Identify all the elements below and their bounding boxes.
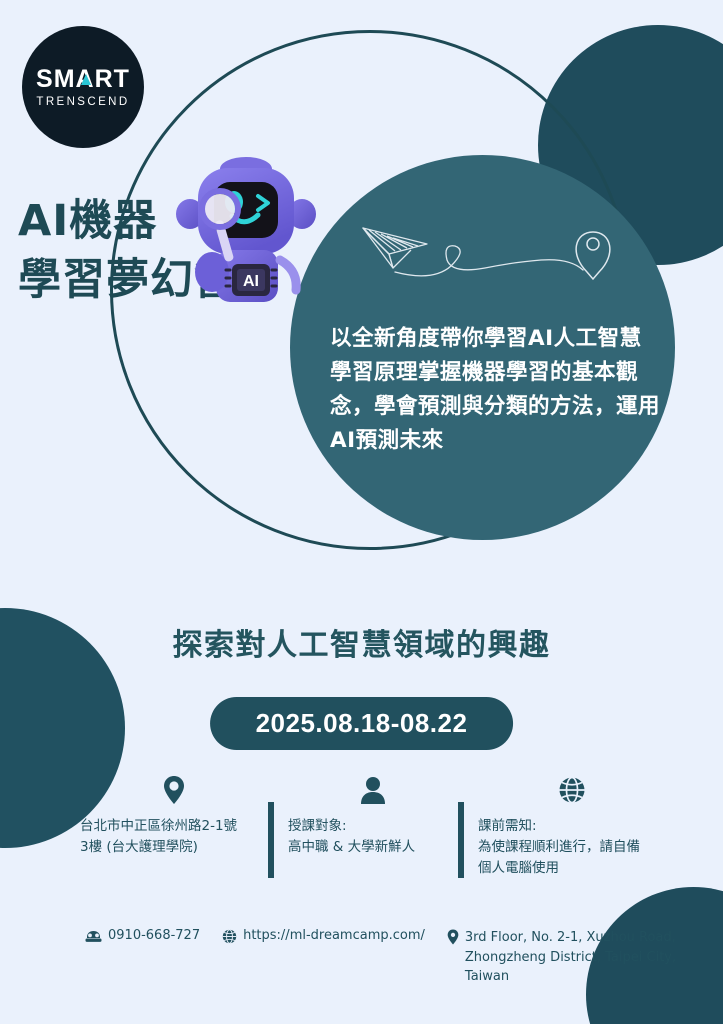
poster-canvas: SMART TRENSCEND AI機器 學習夢幻營 <box>0 0 723 1024</box>
info-column-audience: 授課對象:高中職 & 大學新鮮人 <box>268 772 458 879</box>
logo-triangle-icon <box>81 74 91 85</box>
footer-website[interactable]: https://ml-dreamcamp.com/ <box>222 928 425 944</box>
column-divider <box>458 802 464 878</box>
person-icon <box>288 772 458 808</box>
info-column-prerequisites: 課前需知:為使課程順利進行，請自備個人電腦使用 <box>458 772 665 879</box>
globe-icon <box>222 929 237 944</box>
footer-address: 3rd Floor, No. 2-1, Xuzhou Road, Zhongzh… <box>447 928 680 987</box>
robot-mascot-icon: AI <box>172 152 320 302</box>
course-description: 以全新角度帶你學習AI人工智慧學習原理掌握機器學習的基本觀念，學會預測與分類的方… <box>330 322 660 458</box>
footer-phone[interactable]: 0910-668-727 <box>85 928 200 943</box>
info-column-body: 授課對象:高中職 & 大學新鮮人 <box>288 772 458 879</box>
paper-plane-illustration <box>355 210 655 290</box>
info-text-audience: 授課對象:高中職 & 大學新鮮人 <box>288 816 458 858</box>
info-text-prerequisites: 課前需知:為使課程順利進行，請自備個人電腦使用 <box>478 816 665 879</box>
location-pin-icon <box>80 772 268 808</box>
mascot-ai-badge-label: AI <box>243 273 259 290</box>
footer-address-label: 3rd Floor, No. 2-1, Xuzhou Road, Zhongzh… <box>465 928 680 987</box>
telephone-icon <box>85 929 102 943</box>
info-columns: 台北市中正區徐州路2-1號3樓 (台大護理學院) 授課對象:高中職 & 大學新鮮… <box>80 772 665 879</box>
info-column-body: 課前需知:為使課程順利進行，請自備個人電腦使用 <box>478 772 665 879</box>
footer-phone-label: 0910-668-727 <box>108 928 200 943</box>
globe-icon <box>478 772 665 808</box>
footer-website-label: https://ml-dreamcamp.com/ <box>243 928 425 943</box>
location-pin-icon <box>447 929 459 945</box>
info-column-location: 台北市中正區徐州路2-1號3樓 (台大護理學院) <box>80 772 268 879</box>
logo-trenscend-label: TRENSCEND <box>36 96 129 108</box>
section-subtitle: 探索對人工智慧領域的興趣 <box>0 620 723 664</box>
info-column-body: 台北市中正區徐州路2-1號3樓 (台大護理學院) <box>80 772 268 879</box>
page-title-line-1: AI機器 <box>18 196 157 246</box>
brand-logo: SMART TRENSCEND <box>22 26 144 148</box>
logo-smart-text: SMART <box>36 67 130 92</box>
column-divider <box>268 802 274 878</box>
date-badge: 2025.08.18-08.22 <box>210 697 514 750</box>
footer-contact: 0910-668-727 https://ml-dreamcamp.com/ <box>85 928 702 987</box>
info-text-location: 台北市中正區徐州路2-1號3樓 (台大護理學院) <box>80 816 268 858</box>
